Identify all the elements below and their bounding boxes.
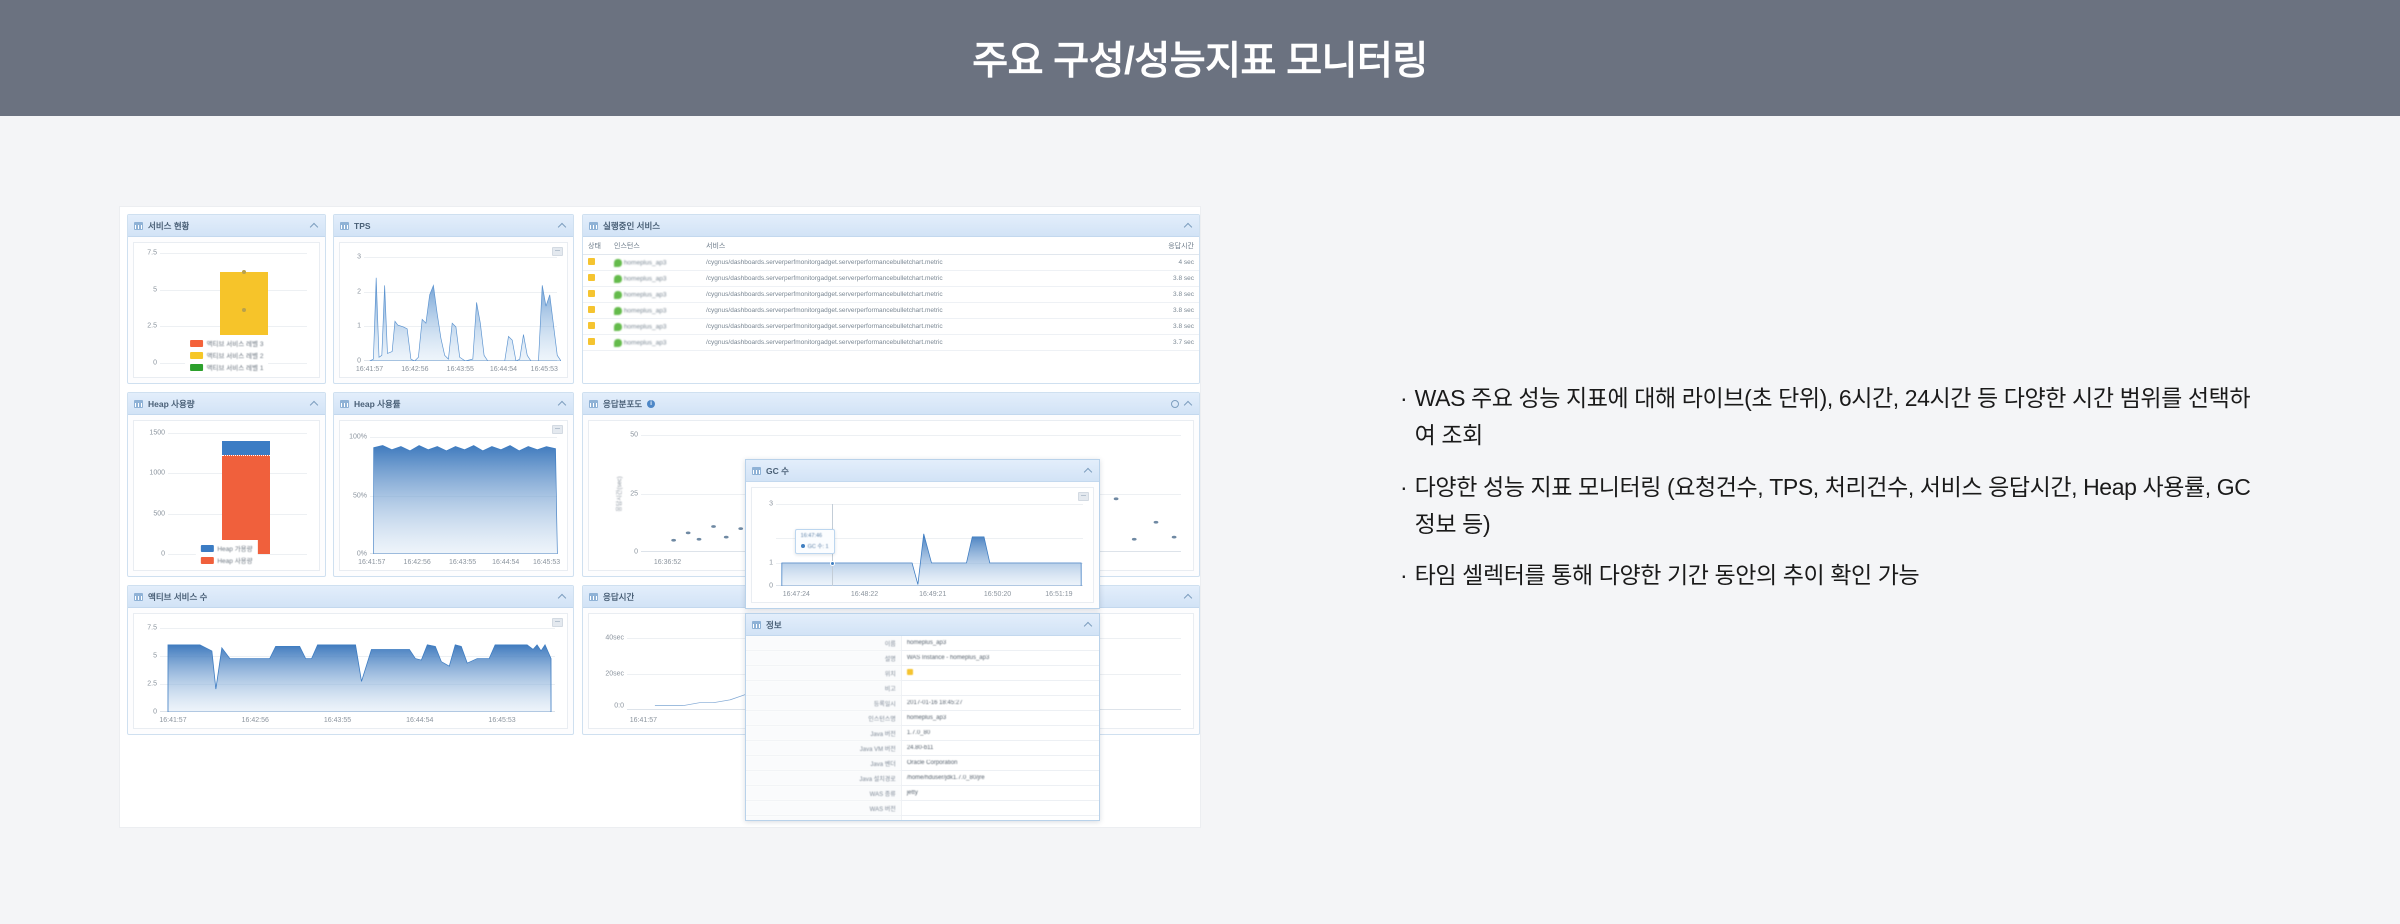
panel-running-services-title: 실행중인 서비스 [603, 220, 660, 232]
table-row[interactable]: homeplus_ap3 /cygnus/dashboards.serverpe… [583, 303, 1199, 319]
y-tick: 20sec [605, 671, 624, 678]
x-tick: 16:42:56 [242, 717, 269, 724]
instance-name: homeplus_ap3 [624, 275, 667, 282]
legend-item: 액티브 서비스 레벨 3 [190, 338, 264, 348]
y-tick: 2 [357, 288, 361, 295]
collapse-chevron-icon[interactable] [1184, 399, 1193, 408]
panel-service-status-header[interactable]: 서비스 현황 [128, 215, 325, 237]
panel-service-status-body: 7.5 5 2.5 0 액티브 서비스 레벨 3 [133, 242, 320, 378]
leaf-icon [614, 339, 622, 347]
y-tick: 7.5 [147, 625, 157, 632]
col-instance: 인스턴스 [609, 237, 701, 255]
y-tick: 500 [153, 510, 165, 517]
info-key: 등록일시 [746, 696, 901, 711]
info-table: 이름homeplus_ap3 설명WAS Instance - homeplus… [746, 636, 1099, 820]
service-cell: /cygnus/dashboards.serverperfmonitorgadg… [701, 303, 1145, 319]
active-services-area [160, 628, 559, 712]
legend-label: Heap 가용량 [217, 543, 252, 553]
panel-service-status-title: 서비스 현황 [148, 220, 189, 232]
y-tick: 0% [357, 551, 367, 558]
gc-count-xaxis: 16:47:24 16:48:22 16:49:21 16:50:20 16:5… [752, 591, 1093, 602]
y-tick: 2.5 [147, 323, 157, 330]
x-tick: 16:49:21 [919, 591, 946, 598]
x-tick: 16:45:53 [531, 366, 558, 373]
leaf-icon [614, 291, 622, 299]
x-tick: 16:44:54 [490, 366, 517, 373]
x-tick: 16:41:57 [630, 717, 657, 724]
info-value: Oracle Corporation [901, 756, 1099, 771]
panel-service-status[interactable]: 서비스 현황 7.5 5 2.5 0 [127, 214, 326, 384]
page-banner: 주요 구성/성능지표 모니터링 [0, 0, 2400, 116]
x-tick: 16:43:55 [449, 559, 476, 566]
panel-running-services[interactable]: 실행중인 서비스 상태 인스턴스 서비스 응답시간 [582, 214, 1200, 384]
status-cell [583, 303, 609, 319]
status-cell [583, 335, 609, 351]
info-value: /home/hduser/jdk1.7.0_80/jre [901, 771, 1099, 786]
info-key: 이름 [746, 636, 901, 651]
panel-heap-usage-rate-body: 100% 50% 0% 16:41:57 [339, 420, 568, 571]
y-tick: 1000 [149, 470, 165, 477]
collapse-chevron-icon[interactable] [1084, 620, 1093, 629]
legend-label: 액티브 서비스 레벨 2 [207, 350, 264, 360]
bullet-text: WAS 주요 성능 지표에 대해 라이브(초 단위), 6시간, 24시간 등 … [1415, 380, 2260, 455]
y-tick: 50 [630, 432, 638, 439]
legend-swatch [190, 364, 203, 371]
info-value: 1.7.0_80 [901, 726, 1099, 741]
bullet-item: · 다양한 성능 지표 모니터링 (요청건수, TPS, 처리건수, 서비스 응… [1400, 469, 2260, 544]
bullet-item: · WAS 주요 성능 지표에 대해 라이브(초 단위), 6시간, 24시간 … [1400, 380, 2260, 455]
x-tick: 16:42:56 [401, 366, 428, 373]
info-value [901, 816, 1099, 821]
collapse-chevron-icon[interactable] [558, 221, 567, 230]
heap-amount-legend: Heap 가용량 Heap 사용량 [195, 540, 257, 568]
x-tick: 16:45:53 [488, 717, 515, 724]
status-cell [583, 255, 609, 271]
info-key: WAS 설치경로 [746, 816, 901, 821]
bullet-marker: · [1400, 469, 1408, 506]
col-response-time: 응답시간 [1145, 237, 1199, 255]
legend-swatch [190, 340, 203, 347]
chart-menu-icon[interactable] [552, 247, 563, 256]
chart-icon [589, 400, 598, 408]
panel-tps[interactable]: TPS 3 2 1 0 [333, 214, 574, 384]
running-services-table: 상태 인스턴스 서비스 응답시간 homeplus_ap3 /cygnus/da… [583, 237, 1199, 351]
legend-item: 액티브 서비스 레벨 1 [190, 362, 264, 372]
chart-menu-icon[interactable] [1078, 492, 1089, 501]
y-tick: 5 [153, 286, 157, 293]
service-cell: /cygnus/dashboards.serverperfmonitorgadg… [701, 319, 1145, 335]
info-key: WAS 버전 [746, 801, 901, 816]
collapse-chevron-icon[interactable] [310, 399, 319, 408]
info-row: 이름homeplus_ap3 [746, 636, 1099, 651]
y-tick: 0:0 [614, 703, 624, 710]
collapse-chevron-icon[interactable] [1184, 592, 1193, 601]
info-key: Java 벤더 [746, 756, 901, 771]
chart-menu-icon[interactable] [552, 618, 563, 627]
y-tick: 5 [153, 652, 157, 659]
gc-count-plot: 3 1 0 16:47:46 GC 수: 1 [776, 504, 1087, 586]
bullet-text: 타임 셀렉터를 통해 다양한 기간 동안의 추이 확인 가능 [1415, 557, 1920, 594]
info-key: 비고 [746, 681, 901, 696]
panel-heap-usage-amount-title: Heap 사용량 [148, 398, 195, 410]
x-tick: 16:41:57 [159, 717, 186, 724]
panel-response-distribution-title: 응답분포도 [603, 398, 642, 410]
bullet-marker: · [1400, 557, 1408, 594]
legend-label: 액티브 서비스 레벨 1 [207, 362, 264, 372]
panel-info-title: 정보 [766, 619, 782, 631]
panel-heap-usage-rate-header[interactable]: Heap 사용률 [334, 393, 573, 415]
collapse-chevron-icon[interactable] [310, 221, 319, 230]
heap-rate-area [370, 437, 561, 554]
legend-swatch [190, 352, 203, 359]
info-key: Java VM 버전 [746, 741, 901, 756]
status-square-icon [588, 306, 595, 313]
info-row: 설명WAS Instance - homeplus_ap3 [746, 651, 1099, 666]
y-tick: 1500 [149, 430, 165, 437]
status-square-icon [588, 290, 595, 297]
x-tick: 16:41:57 [356, 366, 383, 373]
legend-item: 액티브 서비스 레벨 2 [190, 350, 264, 360]
tooltip-time: 16:47:46 [801, 533, 829, 539]
instance-cell[interactable]: homeplus_ap3 [609, 287, 701, 303]
y-tick: 7.5 [147, 250, 157, 257]
collapse-chevron-icon[interactable] [1184, 221, 1193, 230]
info-value [901, 681, 1099, 696]
panel-running-services-body: 상태 인스턴스 서비스 응답시간 homeplus_ap3 /cygnus/da… [583, 237, 1199, 383]
col-status: 상태 [583, 237, 609, 255]
panel-active-services-body: 7.5 5 2.5 0 16:41:57 16:42:56 16:43:55 1… [133, 613, 568, 729]
service-status-legend: 액티브 서비스 레벨 3 액티브 서비스 레벨 2 액티브 서비스 레벨 1 [185, 335, 269, 375]
response-time-cell: 3.8 sec [1145, 287, 1199, 303]
y-tick: 0 [153, 709, 157, 716]
panel-heap-usage-rate[interactable]: Heap 사용률 100% 50% 0% [333, 392, 574, 577]
chart-icon [340, 222, 349, 230]
tooltip-series-dot [801, 544, 805, 548]
table-row[interactable]: homeplus_ap3 /cygnus/dashboards.serverpe… [583, 255, 1199, 271]
chart-icon [340, 400, 349, 408]
info-key: WAS 종류 [746, 786, 901, 801]
info-value [901, 666, 1099, 681]
gear-icon[interactable] [1171, 400, 1179, 408]
panel-tps-body: 3 2 1 0 16:41:57 [339, 242, 568, 378]
status-square-icon [588, 322, 595, 329]
y-tick: 0 [769, 583, 773, 590]
panel-heap-usage-rate-title: Heap 사용률 [354, 398, 401, 410]
instance-name: homeplus_ap3 [624, 291, 667, 298]
info-row: Java 설치경로/home/hduser/jdk1.7.0_80/jre [746, 771, 1099, 786]
panel-info-header[interactable]: 정보 [746, 614, 1099, 636]
y-tick: 50% [353, 492, 367, 499]
heap-rate-plot: 100% 50% 0% [370, 437, 561, 554]
x-tick: 16:45:53 [533, 559, 560, 566]
y-tick: 0 [634, 549, 638, 556]
x-tick: 16:44:54 [406, 717, 433, 724]
info-row: WAS 설치경로 [746, 816, 1099, 821]
x-tick: 16:43:55 [324, 717, 351, 724]
hover-marker-dot [830, 561, 835, 566]
panel-gc-count-body: 3 1 0 16:47:46 GC 수: 1 [751, 487, 1094, 603]
instance-name: homeplus_ap3 [624, 323, 667, 330]
y-tick: 100% [349, 434, 367, 441]
legend-swatch [200, 545, 213, 552]
instance-name: homeplus_ap3 [624, 339, 667, 346]
instance-name: homeplus_ap3 [624, 259, 667, 266]
status-square-icon [588, 274, 595, 281]
y-tick: 1 [357, 323, 361, 330]
table-row[interactable]: homeplus_ap3 /cygnus/dashboards.serverpe… [583, 271, 1199, 287]
instance-cell[interactable]: homeplus_ap3 [609, 303, 701, 319]
y-tick: 1 [769, 560, 773, 567]
table-icon [589, 222, 598, 230]
y-tick: 0 [357, 358, 361, 365]
response-time-cell: 3.8 sec [1145, 303, 1199, 319]
info-value [901, 801, 1099, 816]
x-tick: 16:47:24 [783, 591, 810, 598]
collapse-chevron-icon[interactable] [558, 399, 567, 408]
panel-gc-count[interactable]: GC 수 3 1 0 [745, 459, 1100, 609]
panel-tps-title: TPS [354, 221, 371, 231]
collapse-chevron-icon[interactable] [558, 592, 567, 601]
x-tick: 16:41:57 [358, 559, 385, 566]
info-value: homeplus_ap3 [901, 711, 1099, 726]
chart-icon [134, 593, 143, 601]
info-row: 위치 [746, 666, 1099, 681]
info-key: 설명 [746, 651, 901, 666]
response-time-cell: 4 sec [1145, 255, 1199, 271]
y-tick: 0 [153, 360, 157, 367]
bullet-item: · 타임 셀렉터를 통해 다양한 기간 동안의 추이 확인 가능 [1400, 557, 2260, 594]
status-cell [583, 271, 609, 287]
leaf-icon [614, 307, 622, 315]
heap-amount-plot: 1500 1000 500 0 [168, 433, 311, 554]
panel-response-time-title: 응답시간 [603, 591, 634, 603]
info-row: Java VM 버전24.80-b11 [746, 741, 1099, 756]
gc-tooltip: 16:47:46 GC 수: 1 [795, 529, 835, 554]
y-tick: 2.5 [147, 680, 157, 687]
response-time-cell: 3.8 sec [1145, 319, 1199, 335]
legend-label: 액티브 서비스 레벨 3 [207, 338, 264, 348]
info-key: 인스턴스명 [746, 711, 901, 726]
table-row[interactable]: homeplus_ap3 /cygnus/dashboards.serverpe… [583, 319, 1199, 335]
leaf-icon [614, 259, 622, 267]
info-row: Java 벤더Oracle Corporation [746, 756, 1099, 771]
info-icon[interactable]: i [647, 400, 655, 408]
panel-heap-usage-amount-body: 1500 1000 500 0 Heap 가용량 Heap 사용량 [133, 420, 320, 571]
info-key: Java 버전 [746, 726, 901, 741]
x-tick: 16:50:20 [984, 591, 1011, 598]
instance-name: homeplus_ap3 [624, 307, 667, 314]
panel-info[interactable]: 정보 이름homeplus_ap3 설명WAS Instance - homep… [745, 613, 1100, 821]
table-row[interactable]: homeplus_ap3 /cygnus/dashboards.serverpe… [583, 287, 1199, 303]
bullet-marker: · [1400, 380, 1408, 417]
bullet-text: 다양한 성능 지표 모니터링 (요청건수, TPS, 처리건수, 서비스 응답시… [1415, 469, 2260, 544]
service-cell: /cygnus/dashboards.serverperfmonitorgadg… [701, 287, 1145, 303]
heap-rate-xaxis: 16:41:57 16:42:56 16:43:55 16:44:54 16:4… [340, 559, 567, 570]
chart-icon [134, 222, 143, 230]
info-key: Java 설치경로 [746, 771, 901, 786]
panel-response-distribution-header[interactable]: 응답분포도 i [583, 393, 1199, 415]
tps-plot: 3 2 1 0 [364, 257, 561, 361]
instance-cell[interactable]: homeplus_ap3 [609, 335, 701, 351]
info-row: 인스턴스명homeplus_ap3 [746, 711, 1099, 726]
y-axis-label: 응답시간(sec) [614, 476, 623, 511]
status-cell [583, 287, 609, 303]
panel-running-services-header[interactable]: 실행중인 서비스 [583, 215, 1199, 237]
legend-label: Heap 사용량 [217, 555, 252, 565]
dashboard-screenshot: 서비스 현황 7.5 5 2.5 0 [120, 207, 1200, 827]
x-tick: 16:43:55 [447, 366, 474, 373]
panel-info-body: 이름homeplus_ap3 설명WAS Instance - homeplus… [746, 636, 1099, 820]
tps-spark-area [364, 257, 561, 361]
info-row: Java 버전1.7.0_80 [746, 726, 1099, 741]
col-service: 서비스 [701, 237, 1145, 255]
chart-icon [589, 593, 598, 601]
collapse-chevron-icon[interactable] [1084, 466, 1093, 475]
y-tick: 0 [161, 551, 165, 558]
legend-swatch [200, 557, 213, 564]
instance-cell[interactable]: homeplus_ap3 [609, 271, 701, 287]
table-row[interactable]: homeplus_ap3 /cygnus/dashboards.serverpe… [583, 335, 1199, 351]
x-tick: 16:44:54 [492, 559, 519, 566]
active-services-plot: 7.5 5 2.5 0 [160, 628, 559, 712]
active-services-xaxis: 16:41:57 16:42:56 16:43:55 16:44:54 16:4… [134, 717, 567, 728]
status-square-icon [588, 258, 595, 265]
panel-heap-usage-amount-header[interactable]: Heap 사용량 [128, 393, 325, 415]
y-tick: 3 [769, 501, 773, 508]
panel-active-services-header[interactable]: 액티브 서비스 수 [128, 586, 573, 608]
info-row: 비고 [746, 681, 1099, 696]
info-value: jetty [901, 786, 1099, 801]
y-tick: 3 [357, 254, 361, 261]
response-time-cell: 3.7 sec [1145, 335, 1199, 351]
panel-active-services-title: 액티브 서비스 수 [148, 591, 207, 603]
chart-icon [134, 400, 143, 408]
instance-cell[interactable]: homeplus_ap3 [609, 255, 701, 271]
chart-menu-icon[interactable] [552, 425, 563, 434]
leaf-icon [614, 275, 622, 283]
info-value: homeplus_ap3 [901, 636, 1099, 651]
info-row: 등록일시2017-01-16 18:45:27 [746, 696, 1099, 711]
x-tick: 16:51:19 [1045, 591, 1072, 598]
panel-active-services[interactable]: 액티브 서비스 수 7.5 5 2.5 0 [127, 585, 574, 735]
tps-xaxis: 16:41:57 16:42:56 16:43:55 16:44:54 16:4… [340, 366, 567, 377]
info-row: WAS 종류jetty [746, 786, 1099, 801]
info-value: WAS Instance - homeplus_ap3 [901, 651, 1099, 666]
response-time-cell: 3.8 sec [1145, 271, 1199, 287]
info-key: 위치 [746, 666, 901, 681]
x-tick: 16:36:52 [654, 559, 681, 566]
info-value: 2017-01-16 18:45:27 [901, 696, 1099, 711]
legend-item: Heap 사용량 [200, 555, 252, 565]
table-header-row: 상태 인스턴스 서비스 응답시간 [583, 237, 1199, 255]
y-tick: 40sec [605, 635, 624, 642]
tooltip-value: GC 수: 1 [808, 542, 829, 550]
panel-tps-header[interactable]: TPS [334, 215, 573, 237]
x-tick: 16:42:56 [404, 559, 431, 566]
page-title: 주요 구성/성능지표 모니터링 [972, 30, 1428, 86]
panel-gc-count-title: GC 수 [766, 465, 789, 477]
y-tick: 25 [630, 490, 638, 497]
legend-item: Heap 가용량 [200, 543, 252, 553]
leaf-icon [614, 323, 622, 331]
chart-icon [752, 467, 761, 475]
info-row: WAS 버전 [746, 801, 1099, 816]
instance-cell[interactable]: homeplus_ap3 [609, 319, 701, 335]
service-cell: /cygnus/dashboards.serverperfmonitorgadg… [701, 335, 1145, 351]
service-cell: /cygnus/dashboards.serverperfmonitorgadg… [701, 255, 1145, 271]
info-panel-icon [752, 621, 761, 629]
panel-gc-count-header[interactable]: GC 수 [746, 460, 1099, 482]
status-square-icon [588, 338, 595, 345]
status-cell [583, 319, 609, 335]
panel-heap-usage-amount[interactable]: Heap 사용량 1500 1000 500 0 [127, 392, 326, 577]
x-tick: 16:48:22 [851, 591, 878, 598]
feature-bullet-list: · WAS 주요 성능 지표에 대해 라이브(초 단위), 6시간, 24시간 … [1400, 380, 2260, 608]
service-cell: /cygnus/dashboards.serverperfmonitorgadg… [701, 271, 1145, 287]
info-value: 24.80-b11 [901, 741, 1099, 756]
